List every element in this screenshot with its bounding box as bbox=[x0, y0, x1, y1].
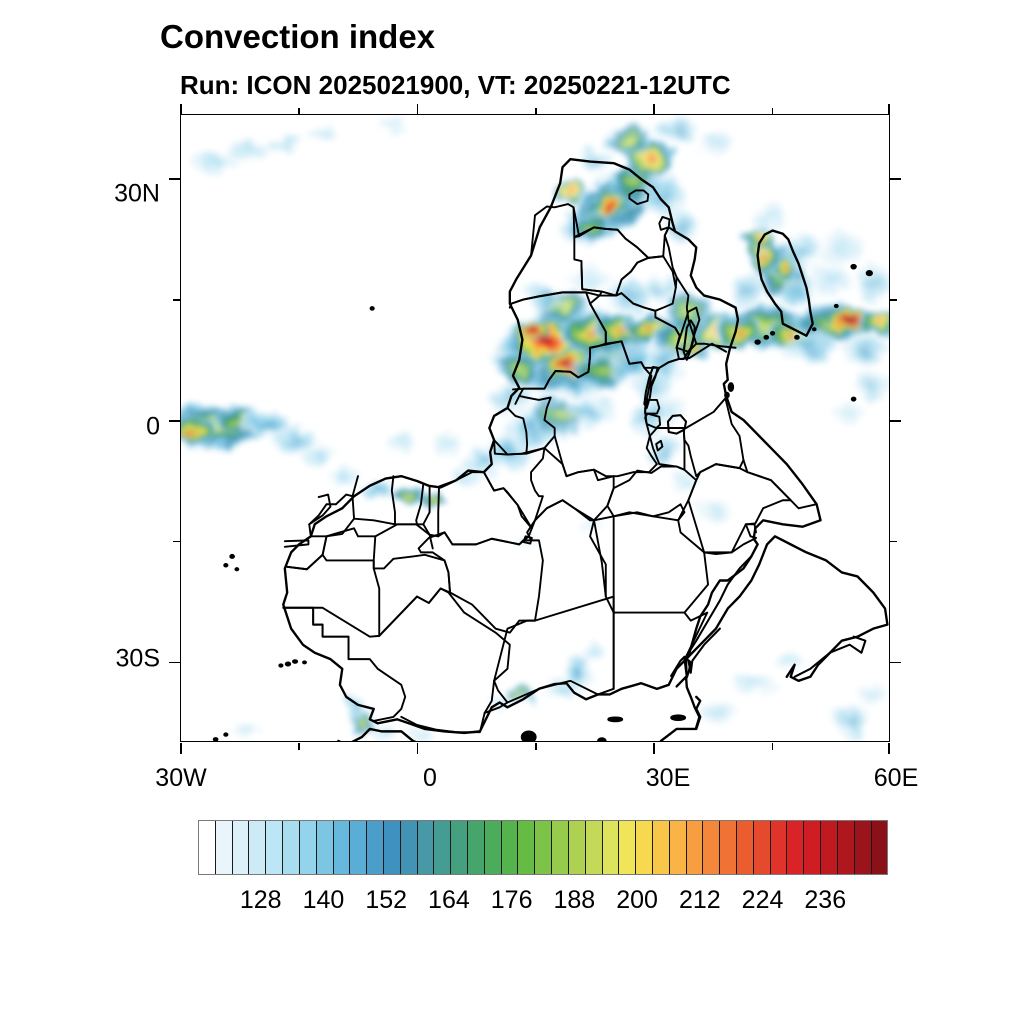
x-axis-label-0: 30W bbox=[155, 764, 206, 793]
colorbar-cell bbox=[687, 821, 704, 874]
y-tick-right-0 bbox=[890, 420, 901, 422]
colorbar-tick-label: 152 bbox=[365, 886, 407, 915]
colorbar-cell bbox=[653, 821, 670, 874]
chart-page: Convection index Run: ICON 2025021900, V… bbox=[0, 0, 1024, 1024]
x-tick-major-0 bbox=[417, 743, 419, 754]
colorbar-cell bbox=[283, 821, 300, 874]
colorbar-cell bbox=[502, 821, 519, 874]
colorbar-cell bbox=[586, 821, 603, 874]
x-axis-label-3: 60E bbox=[874, 764, 918, 793]
x-tick-top-15E bbox=[535, 108, 537, 115]
colorbar-cell bbox=[401, 821, 418, 874]
colorbar-tick-label: 164 bbox=[428, 886, 470, 915]
colorbar-cell bbox=[838, 821, 855, 874]
colorbar-cell bbox=[418, 821, 435, 874]
colorbar bbox=[198, 820, 888, 875]
y-tick-major-0 bbox=[169, 420, 180, 422]
colorbar-cell bbox=[434, 821, 451, 874]
colorbar-cell bbox=[720, 821, 737, 874]
colorbar-cell bbox=[670, 821, 687, 874]
y-tick-minor-15S bbox=[173, 541, 180, 543]
map-canvas bbox=[181, 115, 889, 741]
colorbar-cell bbox=[451, 821, 468, 874]
colorbar-cell bbox=[872, 821, 888, 874]
colorbar-tick-label: 236 bbox=[804, 886, 846, 915]
colorbar-cell bbox=[737, 821, 754, 874]
colorbar-tick-label: 212 bbox=[679, 886, 721, 915]
colorbar-cell bbox=[199, 821, 216, 874]
x-tick-major-60E bbox=[888, 743, 890, 754]
x-axis-label-2: 30E bbox=[646, 764, 690, 793]
colorbar-cell bbox=[771, 821, 788, 874]
colorbar-cell bbox=[300, 821, 317, 874]
colorbar-cell bbox=[468, 821, 485, 874]
y-tick-right-15N bbox=[890, 299, 897, 301]
colorbar-cell bbox=[703, 821, 720, 874]
colorbar-cell bbox=[384, 821, 401, 874]
colorbar-cell bbox=[603, 821, 620, 874]
x-tick-top-45E bbox=[772, 108, 774, 115]
page-subtitle: Run: ICON 2025021900, VT: 20250221-12UTC bbox=[180, 70, 731, 101]
x-tick-major-30E bbox=[653, 743, 655, 754]
colorbar-tick-label: 128 bbox=[240, 886, 282, 915]
y-axis-label-1: 0 bbox=[98, 413, 160, 442]
colorbar-cell bbox=[249, 821, 266, 874]
x-tick-top-30E bbox=[653, 104, 655, 115]
x-tick-minor-15E bbox=[535, 743, 537, 750]
x-tick-minor-15W bbox=[298, 743, 300, 750]
colorbar-cell bbox=[216, 821, 233, 874]
page-title: Convection index bbox=[160, 18, 435, 56]
x-tick-top-15W bbox=[298, 108, 300, 115]
colorbar-cell bbox=[569, 821, 586, 874]
colorbar-cell bbox=[350, 821, 367, 874]
colorbar-cell bbox=[754, 821, 771, 874]
colorbar-cell bbox=[804, 821, 821, 874]
y-tick-major-30S bbox=[169, 662, 180, 664]
y-tick-right-30S bbox=[890, 662, 901, 664]
x-tick-top-0 bbox=[417, 104, 419, 115]
colorbar-cell bbox=[535, 821, 552, 874]
colorbar-tick-label: 200 bbox=[616, 886, 658, 915]
colorbar-cell bbox=[552, 821, 569, 874]
y-tick-minor-15N bbox=[173, 299, 180, 301]
x-tick-minor-45E bbox=[772, 743, 774, 750]
x-tick-major-30W bbox=[180, 743, 182, 754]
colorbar-cell bbox=[855, 821, 872, 874]
colorbar-cell bbox=[334, 821, 351, 874]
colorbar-cell bbox=[485, 821, 502, 874]
y-axis-label-2: 30S bbox=[98, 645, 160, 674]
x-tick-top-30W bbox=[180, 104, 182, 115]
x-axis-label-1: 0 bbox=[423, 764, 437, 793]
colorbar-cell bbox=[619, 821, 636, 874]
colorbar-cell bbox=[636, 821, 653, 874]
colorbar-cell bbox=[787, 821, 804, 874]
colorbar-cell bbox=[317, 821, 334, 874]
colorbar-cell bbox=[821, 821, 838, 874]
colorbar-cell bbox=[518, 821, 535, 874]
colorbar-cell bbox=[266, 821, 283, 874]
colorbar-tick-label: 188 bbox=[554, 886, 596, 915]
y-axis-label-0: 30N bbox=[98, 180, 160, 209]
colorbar-cell bbox=[367, 821, 384, 874]
x-tick-top-60E bbox=[888, 104, 890, 115]
colorbar-tick-label: 224 bbox=[742, 886, 784, 915]
map-panel bbox=[180, 114, 890, 742]
colorbar-tick-label: 140 bbox=[303, 886, 345, 915]
y-tick-right-30N bbox=[890, 178, 901, 180]
y-tick-major-30N bbox=[169, 178, 180, 180]
colorbar-tick-label: 176 bbox=[491, 886, 533, 915]
y-tick-right-15S bbox=[890, 541, 897, 543]
colorbar-cell bbox=[233, 821, 250, 874]
